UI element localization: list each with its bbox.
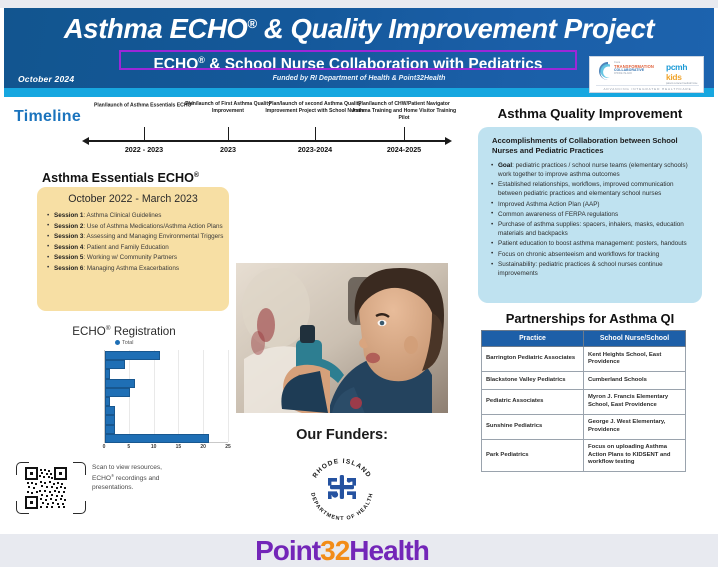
bullet-text: Purchase of asthma supplies: spacers, in… (498, 221, 684, 237)
table-row: Park Pediatrics Focus on uploading Asthm… (482, 439, 686, 472)
cell-practice: Barrington Pediatric Associates (482, 347, 584, 372)
cell-school: George J. West Elementary, Providence (584, 414, 686, 439)
ridoh-emblem-icon (328, 475, 356, 499)
session-text: : Use of Asthma Medications/Asthma Actio… (83, 223, 222, 230)
timeline-arrow-left-icon (82, 137, 89, 145)
right-column: Asthma Quality Improvement Accomplishmen… (466, 97, 714, 534)
table-row: Barrington Pediatric Associates Kent Hei… (482, 347, 686, 372)
echo-registration-chart: Community Health Worker Nurse Case Manag… (8, 350, 240, 458)
ctc-line-4: RHODE ISLAND (614, 73, 664, 76)
pcmh-kids-wordmark: pcmh kids (666, 62, 704, 82)
chart-bar (105, 351, 160, 360)
session-label: Session 4 (54, 244, 83, 251)
chart-bar-row: School Nurse (105, 434, 229, 443)
chart-bar-row: Registered Nurse (105, 415, 229, 424)
poster-canvas: Asthma ECHO® & Quality Improvement Proje… (0, 0, 718, 548)
chart-bar-row: Community Health Worker (105, 351, 229, 360)
chart-bar (105, 379, 135, 388)
session-text: : Assessing and Managing Environmental T… (83, 233, 223, 240)
session-text: : Working w/ Community Partners (83, 254, 177, 261)
child-with-inhaler-photo (236, 263, 448, 413)
qr-caption: Scan to view resources, ECHO® recordings… (92, 463, 172, 493)
list-item: Goal: pediatric practices / school nurse… (490, 161, 694, 179)
timeline-tick (404, 127, 405, 141)
chart-x-tick-label: 15 (168, 444, 188, 450)
pcmh-word: pcmh (666, 62, 687, 72)
ctc-logo-text: Care TRANSFORMATION COLLABORATIVE RHODE … (614, 62, 664, 75)
timeline-tick (315, 127, 316, 141)
chart-bar (105, 406, 115, 415)
timeline-tick (228, 127, 229, 141)
chart-bar-row: Nurse Case Manager (105, 360, 229, 369)
list-item: Common awareness of FERPA regulations (490, 210, 694, 219)
chart-bar (105, 434, 209, 443)
point32health-logo: Point32Health (236, 535, 448, 567)
session-text: : Asthma Clinical Guidelines (83, 212, 161, 219)
table-row: Pediatric Associates Myron J. Francis El… (482, 389, 686, 414)
timeline-arrow-right-icon (445, 137, 452, 145)
cell-practice: Blackstone Valley Pediatrics (482, 372, 584, 390)
registered-mark-icon: ® (194, 172, 199, 179)
column-header-practice: Practice (482, 331, 584, 347)
logo-divider (596, 85, 699, 86)
list-item: Session 3: Assessing and Managing Enviro… (46, 232, 224, 241)
cell-practice: Sunshine Pediatrics (482, 414, 584, 439)
list-item: Established relationships, workflows, im… (490, 180, 694, 198)
bullet-bold: Goal (498, 162, 512, 169)
bullet-text: Focus on chronic absenteeism and workflo… (498, 251, 659, 258)
chart-bar (105, 388, 130, 397)
chart-bar (105, 360, 125, 369)
session-label: Session 1 (54, 212, 83, 219)
session-text: : Managing Asthma Exacerbations (83, 265, 179, 272)
chart-bar-row: Provider (105, 388, 229, 397)
chart-bar (105, 425, 115, 434)
left-column: Timeline Plan/launch of Asthma Essential… (4, 97, 466, 534)
point32-word-b: Health (349, 535, 429, 566)
bullet-text: Established relationships, workflows, im… (498, 181, 674, 197)
qr-bracket-icon (73, 501, 86, 514)
kids-word: kids (666, 72, 682, 82)
chart-bar-row: Other (105, 379, 229, 388)
list-item: Sustainability: pediatric practices & sc… (490, 260, 694, 278)
table-row: Sunshine Pediatrics George J. West Eleme… (482, 414, 686, 439)
list-item: Session 2: Use of Asthma Medications/Ast… (46, 222, 224, 231)
session-label: Session 5 (54, 254, 83, 261)
chart-x-tick-label: 10 (144, 444, 164, 450)
point32-word-a: Point (255, 535, 320, 566)
chart-legend: Total (4, 340, 244, 346)
cell-practice: Park Pediatrics (482, 439, 584, 472)
partnerships-heading: Partnerships for Asthma QI (466, 311, 714, 326)
partnerships-table: Practice School Nurse/School Barrington … (481, 330, 686, 472)
session-text: : Patient and Family Education (83, 244, 168, 251)
logo-footer-tagline: ADVANCING INTEGRATED HEALTHCARE (590, 87, 704, 91)
essentials-heading: Asthma Essentials ECHO® (42, 171, 199, 185)
timeline-year: 2024-2025 (349, 145, 459, 154)
timeline-axis (88, 140, 450, 142)
ri-department-of-health-logo: RHODE ISLAND DEPARTMENT OF HEALTH (302, 449, 382, 529)
session-label: Session 2 (54, 223, 83, 230)
qi-bullet-list: Goal: pediatric practices / school nurse… (490, 161, 694, 279)
essentials-panel: October 2022 - March 2023 Session 1: Ast… (37, 187, 229, 311)
qr-code-frame[interactable] (16, 462, 86, 514)
list-item: Session 5: Working w/ Community Partners (46, 253, 224, 262)
session-label: Session 6 (54, 265, 83, 272)
chart-bar (105, 415, 115, 424)
list-item: Improved Asthma Action Plan (AAP) (490, 200, 694, 209)
chart-x-tick-label: 20 (193, 444, 213, 450)
table-header-row: Practice School Nurse/School (482, 331, 686, 347)
list-item: Session 4: Patient and Family Education (46, 243, 224, 252)
chart-bar-row: Respiratory Therapist (105, 425, 229, 434)
table-row: Blackstone Valley Pediatrics Cumberland … (482, 372, 686, 390)
poster-title: Asthma ECHO® & Quality Improvement Proje… (4, 13, 714, 45)
essentials-date-range: October 2022 - March 2023 (37, 193, 229, 205)
poster-title-rest: & Quality Improvement Project (257, 13, 655, 44)
qi-panel-heading: Accomplishments of Collaboration between… (492, 136, 688, 156)
cell-practice: Pediatric Associates (482, 389, 584, 414)
chart-bar (105, 369, 110, 378)
chart-x-tick-label: 0 (94, 444, 114, 450)
list-item: Focus on chronic absenteeism and workflo… (490, 250, 694, 259)
funders-heading: Our Funders: (236, 427, 448, 443)
qi-accomplishments-panel: Accomplishments of Collaboration between… (478, 127, 702, 303)
chart-bar-row: Practice Manager (105, 406, 229, 415)
bullet-text: Patient education to boost asthma manage… (498, 240, 687, 247)
chart-bar (105, 397, 110, 406)
chart-bar-row: Pharmacist (105, 397, 229, 406)
bullet-text: Common awareness of FERPA regulations (498, 211, 618, 218)
qr-code-icon[interactable] (25, 467, 67, 509)
ctc-swoosh-icon (592, 60, 614, 82)
timeline-tick (144, 127, 145, 141)
cell-school: Focus on uploading Asthma Action Plans t… (584, 439, 686, 472)
bullet-text: : pediatric practices / school nurse tea… (498, 162, 688, 178)
essentials-session-list: Session 1: Asthma Clinical Guidelines Se… (46, 211, 224, 274)
list-item: Patient education to boost asthma manage… (490, 239, 694, 248)
cell-school: Cumberland Schools (584, 372, 686, 390)
list-item: Session 1: Asthma Clinical Guidelines (46, 211, 224, 220)
chart-x-tick-label: 25 (218, 444, 238, 450)
chart-x-tick-label: 5 (119, 444, 139, 450)
cell-school: Kent Heights School, East Providence (584, 347, 686, 372)
pcmh-kids-logo: pcmh kids patient centered medical home (666, 62, 704, 85)
column-header-school: School Nurse/School (584, 331, 686, 347)
qr-bracket-icon (73, 462, 86, 475)
page-top-margin (0, 0, 718, 8)
timeline-milestone-label: Plan/launch of CHW/Patient Navigator Ast… (349, 101, 459, 122)
subtitle-highlight-box (119, 50, 577, 70)
partner-logo-block: Care TRANSFORMATION COLLABORATIVE RHODE … (589, 56, 704, 93)
bullet-text: Improved Asthma Action Plan (AAP) (498, 201, 600, 208)
cell-school: Myron J. Francis Elementary School, East… (584, 389, 686, 414)
session-label: Session 3 (54, 233, 83, 240)
point32-number: 32 (320, 535, 349, 566)
list-item: Session 6: Managing Asthma Exacerbations (46, 264, 224, 273)
legend-label: Total (122, 340, 133, 346)
chart-title: ECHO® Registration (4, 325, 244, 338)
list-item: Purchase of asthma supplies: spacers, in… (490, 220, 694, 238)
timeline-heading: Timeline (14, 108, 81, 126)
legend-swatch-icon (115, 340, 120, 345)
poster-title-main: Asthma ECHO (64, 13, 248, 44)
qi-section-heading: Asthma Quality Improvement (466, 106, 714, 121)
bullet-text: Sustainability: pediatric practices & sc… (498, 261, 663, 277)
registered-mark-icon: ® (247, 16, 256, 31)
poster-sheet: Asthma ECHO® & Quality Improvement Proje… (4, 8, 714, 534)
chart-bar-row: Nurse Practitioner (105, 369, 229, 378)
